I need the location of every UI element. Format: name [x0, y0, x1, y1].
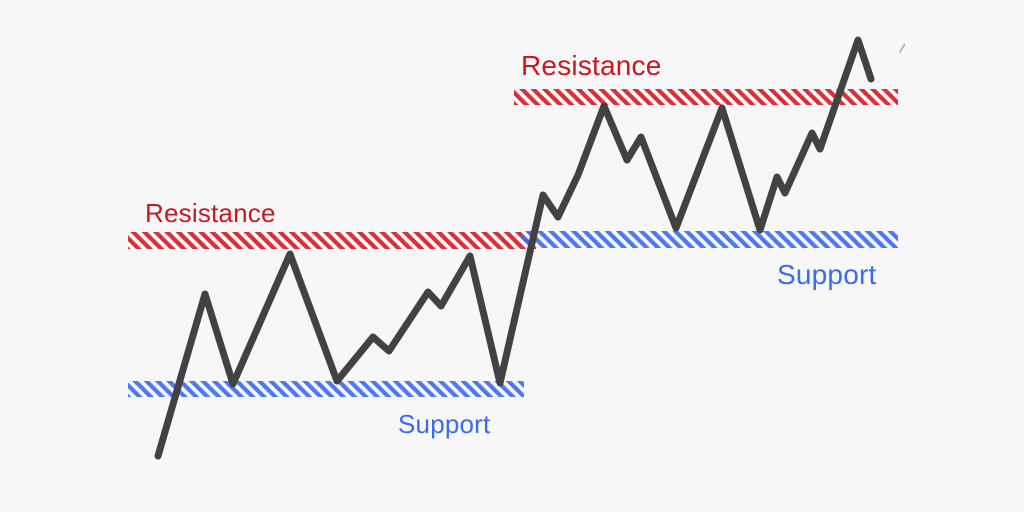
support-band-2[interactable] [521, 231, 898, 248]
support-band-1[interactable] [128, 381, 524, 397]
support-label-1: Support [398, 409, 490, 440]
resistance-band-1[interactable] [128, 232, 536, 249]
zone-bands-group [128, 89, 898, 397]
support-label-2: Support [777, 259, 876, 291]
resistance-label-2: Resistance [521, 50, 662, 82]
tick-mark-icon [900, 44, 905, 52]
decorative-marks-group [900, 44, 905, 52]
price-chart-svg [0, 0, 1024, 512]
resistance-label-1: Resistance [145, 198, 276, 229]
chart-canvas: Resistance Support Resistance Support [0, 0, 1024, 512]
